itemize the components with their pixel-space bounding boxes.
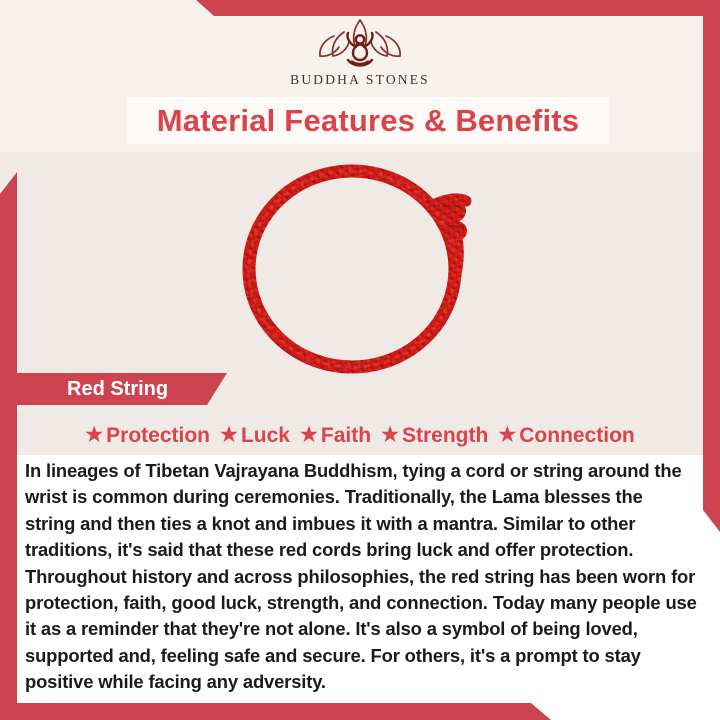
- benefit-item: ★ Faith: [300, 425, 371, 446]
- brand-logo: BUDDHA STONES: [0, 16, 720, 94]
- benefit-item: ★ Protection: [85, 425, 210, 446]
- product-image-area: [17, 152, 703, 384]
- benefit-item: ★ Strength: [381, 425, 488, 446]
- star-icon: ★: [85, 425, 103, 445]
- benefits-list: ★ Protection ★ Luck ★ Faith ★ Strength ★…: [17, 417, 703, 453]
- lotus-meditation-icon: [308, 16, 412, 70]
- page-title: Material Features & Benefits: [157, 105, 580, 136]
- benefit-item: ★ Connection: [498, 425, 634, 446]
- benefit-item: ★ Luck: [220, 425, 290, 446]
- benefit-label: Faith: [321, 425, 371, 446]
- red-string-bracelet-image: [230, 159, 490, 377]
- frame-bar-bottom: [0, 703, 560, 720]
- brand-name: BUDDHA STONES: [290, 72, 430, 88]
- star-icon: ★: [220, 425, 238, 445]
- star-icon: ★: [381, 425, 399, 445]
- material-name-ribbon: Red String: [17, 373, 227, 405]
- description-text: In lineages of Tibetan Vajrayana Buddhis…: [25, 458, 697, 696]
- benefit-label: Protection: [106, 425, 210, 446]
- title-banner: Material Features & Benefits: [127, 97, 609, 144]
- benefit-label: Luck: [241, 425, 290, 446]
- star-icon: ★: [498, 425, 516, 445]
- frame-bar-left: [0, 172, 17, 720]
- benefit-label: Connection: [519, 425, 635, 446]
- star-icon: ★: [300, 425, 318, 445]
- infographic-page: BUDDHA STONES Material Features & Benefi…: [0, 0, 720, 720]
- benefit-label: Strength: [402, 425, 488, 446]
- material-name-label: Red String: [67, 379, 168, 399]
